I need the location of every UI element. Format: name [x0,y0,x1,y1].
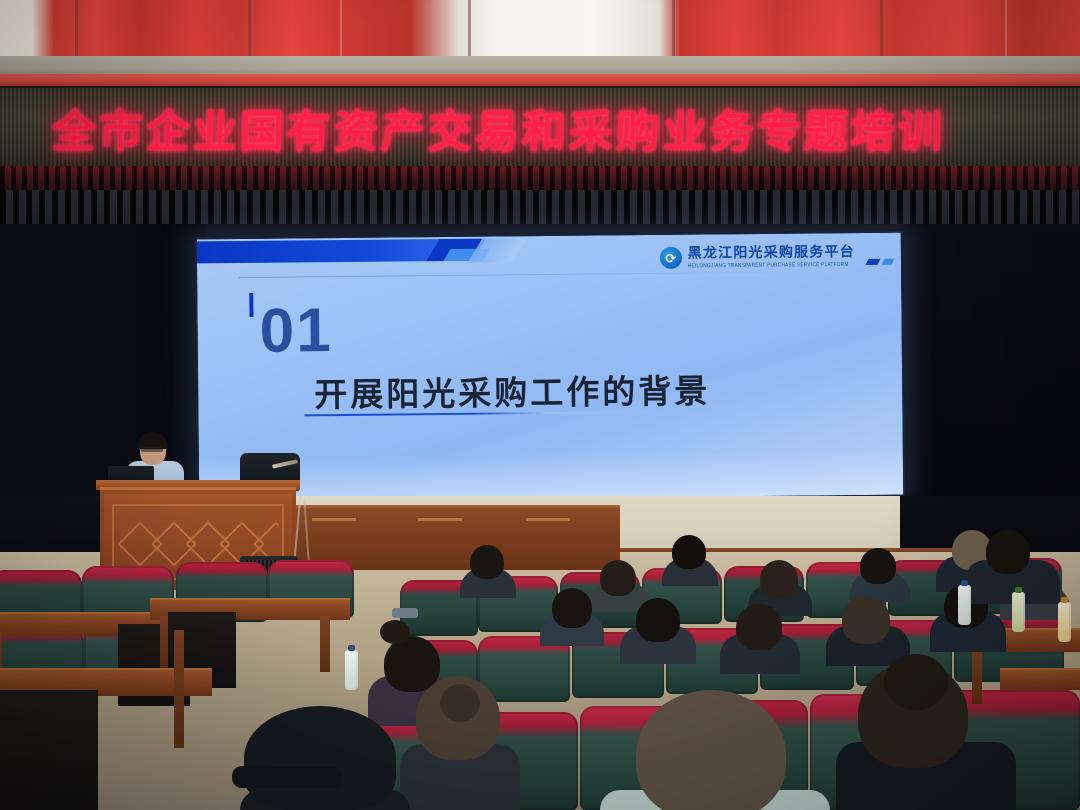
desk-shadow [0,690,98,810]
section-title: 开展阳光采购工作的背景 [314,364,710,416]
section-number: 01 [259,300,333,363]
presenter-glasses-icon [141,447,163,452]
hair-bun [440,684,480,722]
section-accent-bar [249,293,253,317]
juice-bottle-icon[interactable] [1012,592,1025,632]
attendee-head [986,530,1030,574]
attendee-head [860,548,896,584]
platform-logo: ⟳ 黑龙江阳光采购服务平台 HEILONGJIANG TRANSPARENT P… [660,245,855,269]
logo-chinese-name: 黑龙江阳光采购服务平台 [688,246,855,262]
attendee-head [636,690,786,810]
attendee-cap-head [244,706,396,810]
ceiling-light-panels [0,0,1080,62]
projection-screen: ⟳ 黑龙江阳光采购服务平台 HEILONGJIANG TRANSPARENT P… [195,231,906,504]
juice-bottle-icon[interactable] [1058,602,1071,642]
logo-english-name: HEILONGJIANG TRANSPARENT PURCHASE SERVIC… [688,262,855,269]
hair-clip-icon [392,608,418,618]
cap-brim-icon [232,766,342,788]
presentation-slide: ⟳ 黑龙江阳光采购服务平台 HEILONGJIANG TRANSPARENT P… [197,233,903,502]
attendee-head [842,596,890,644]
curtain-valance [0,166,1080,192]
water-bottle-icon[interactable] [345,650,358,690]
conference-hall-photo: 全市企业国有资产交易和采购业务专题培训 ⟳ 黑龙江阳光采购服务平台 HEILON… [0,0,1080,810]
led-banner-text: 全市企业国有资产交易和采购业务专题培训 [51,96,1063,160]
water-bottle-icon[interactable] [958,585,971,625]
attendee-head [552,588,592,628]
hair-bun [884,654,948,710]
attendee-head [736,604,782,650]
slide-bottom-gloss [199,451,903,502]
logo-glyph: ⟳ [665,251,676,264]
slide-top-band [197,239,447,263]
curtain-pleats [0,190,1080,224]
attendee-head [600,560,636,596]
slide-hairline [239,272,799,278]
attendee-head [636,598,680,642]
audience-desk-row [1000,668,1080,690]
logo-dash-marks [867,259,893,265]
logo-text-block: 黑龙江阳光采购服务平台 HEILONGJIANG TRANSPARENT PUR… [688,246,855,269]
attendee-head [760,560,798,598]
logo-mark-icon: ⟳ [660,247,682,269]
hair-bun [380,620,410,644]
attendee-head [672,535,706,569]
attendee-head [470,545,504,579]
led-banner: 全市企业国有资产交易和采购业务专题培训 [0,86,1080,173]
